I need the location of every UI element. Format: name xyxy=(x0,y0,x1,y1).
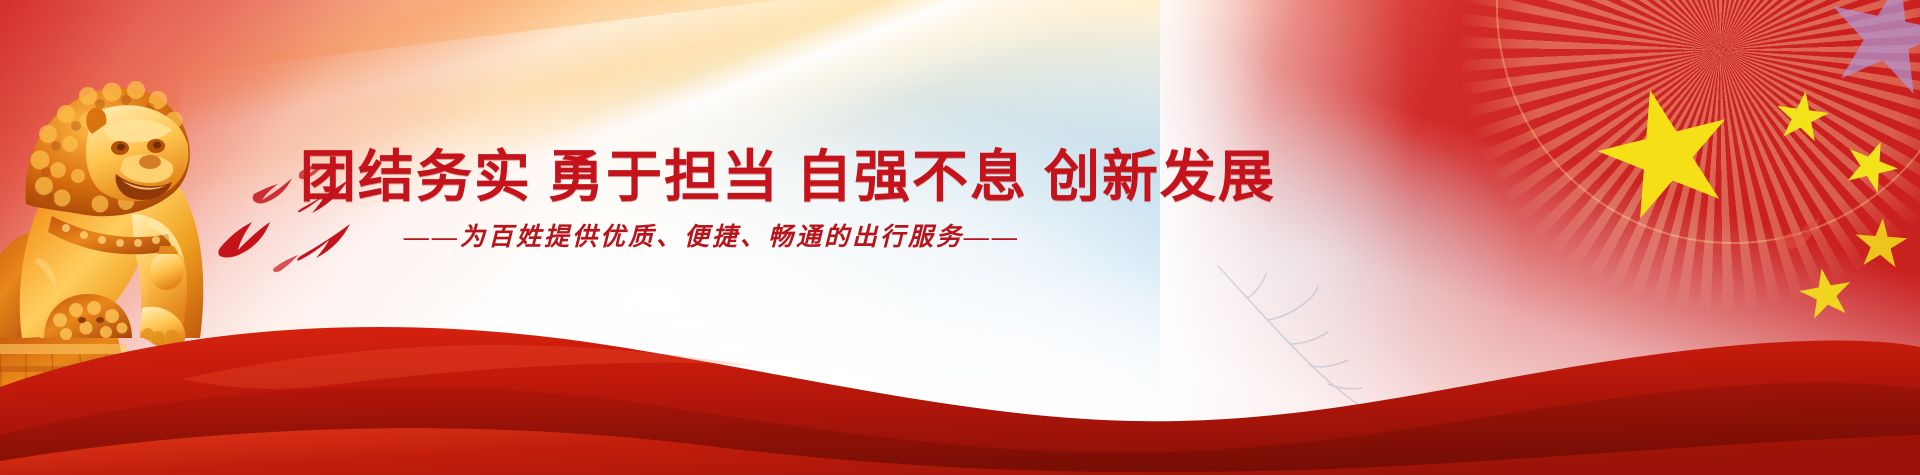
red-silk-wave xyxy=(0,275,1920,475)
banner-subtitle: ——为百姓提供优质、便捷、畅通的出行服务—— xyxy=(404,225,1020,250)
main-slogan: 团结务实 勇于担当 自强不息 创新发展 xyxy=(300,150,1276,206)
party-culture-banner: 团结务实 勇于担当 自强不息 创新发展 ——为百姓提供优质、便捷、畅通的出行服务… xyxy=(0,0,1920,475)
